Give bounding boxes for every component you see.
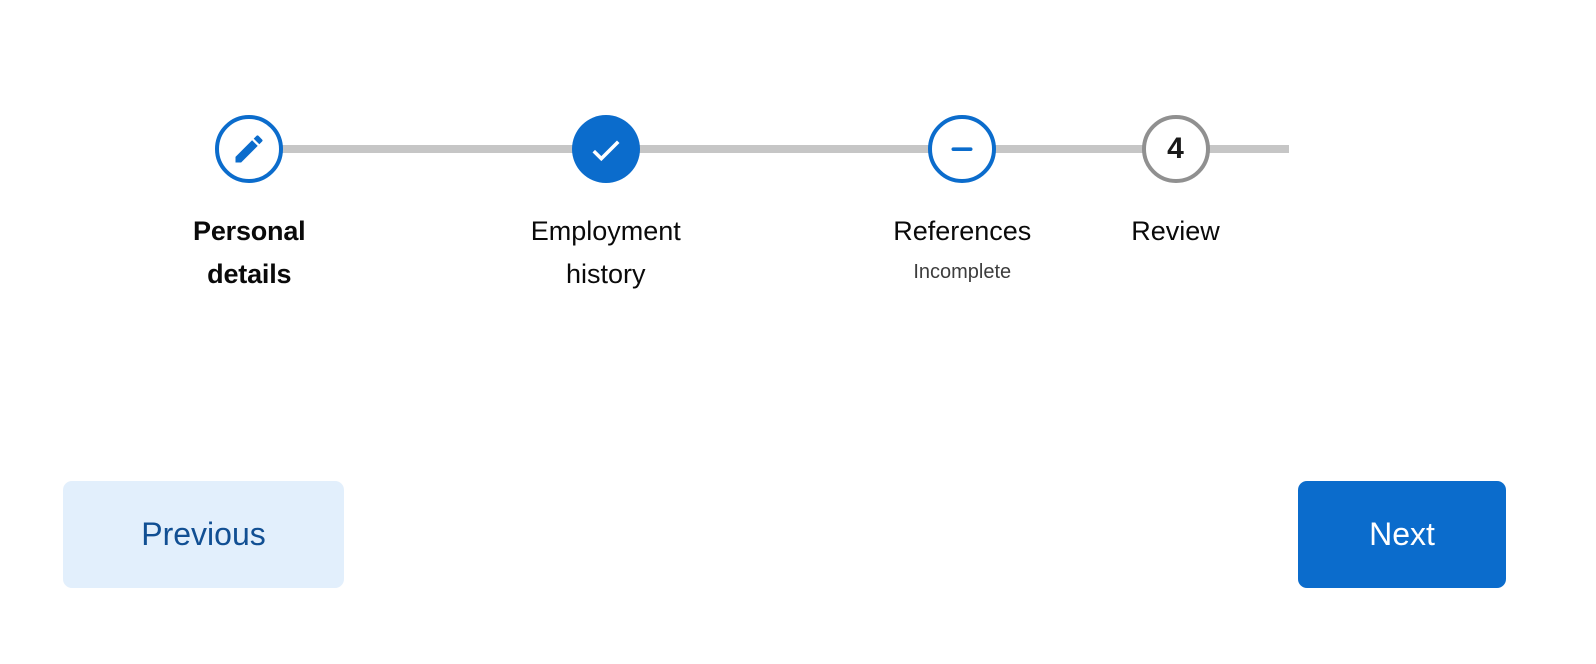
step-1-marker[interactable]	[215, 115, 283, 183]
next-button[interactable]: Next	[1298, 481, 1506, 588]
step-1-personal-details[interactable]	[71, 115, 428, 183]
step-3-references[interactable]	[784, 115, 1141, 183]
step-1-label-cell: Personal details	[71, 210, 428, 296]
stepper-labels-row: Personal details Employment history Refe…	[71, 210, 1567, 296]
previous-button[interactable]: Previous	[63, 481, 344, 588]
step-4-review[interactable]: 4	[1141, 115, 1211, 183]
progress-stepper: 4 Personal details Employment history Re…	[0, 0, 1596, 330]
step-3-marker[interactable]	[928, 115, 996, 183]
minus-icon	[944, 131, 980, 167]
step-2-employment-history[interactable]	[428, 115, 785, 183]
step-4-number: 4	[1167, 134, 1184, 164]
step-4-label-cell: Review	[1141, 210, 1211, 253]
pencil-icon	[231, 131, 267, 167]
wizard-footer: Previous Next	[0, 481, 1596, 588]
step-3-title: References	[872, 210, 1052, 253]
step-2-title: Employment history	[516, 210, 696, 296]
step-4-title: Review	[1081, 210, 1271, 253]
step-2-marker[interactable]	[572, 115, 640, 183]
step-1-title: Personal details	[159, 210, 339, 296]
step-3-status: Incomplete	[872, 256, 1052, 288]
check-icon	[586, 129, 626, 169]
wizard-page: 4 Personal details Employment history Re…	[0, 0, 1596, 664]
step-4-marker[interactable]: 4	[1142, 115, 1210, 183]
step-2-label-cell: Employment history	[428, 210, 785, 296]
stepper-markers-row: 4	[71, 115, 1567, 183]
